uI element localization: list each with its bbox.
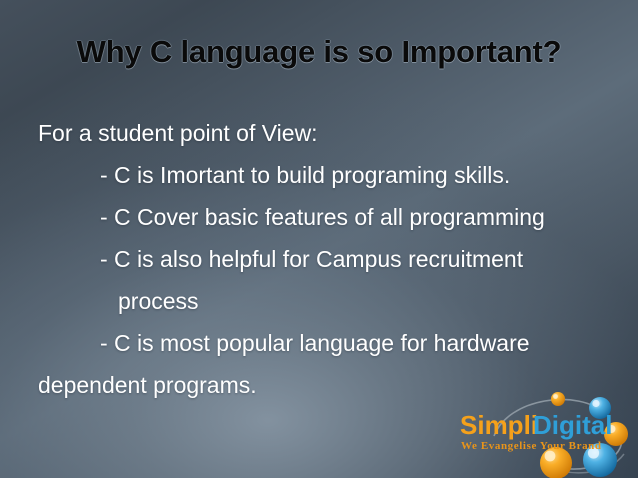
body-intro-line: For a student point of View: <box>38 112 618 154</box>
logo-tagline: We Evangelise Your Brand <box>461 440 602 452</box>
bullet-line-1: - C is Imortant to build programing skil… <box>38 154 618 196</box>
logo-word-digital: Digital <box>533 410 612 440</box>
logo-word-simpli: Simpli <box>460 410 538 440</box>
bullet-line-3-continuation: process <box>38 280 618 322</box>
simplidigital-logo: Simpli Digital We Evangelise Your Brand <box>448 392 638 478</box>
slide-canvas: Why C language is so Important? For a st… <box>0 0 638 478</box>
bullet-line-3: - C is also helpful for Campus recruitme… <box>38 238 618 280</box>
sphere-orange-small-icon <box>551 392 565 406</box>
bullet-line-2: - C Cover basic features of all programm… <box>38 196 618 238</box>
slide-body: For a student point of View: - C is Imor… <box>38 112 618 406</box>
page-title: Why C language is so Important? <box>0 34 638 70</box>
bullet-line-4: - C is most popular language for hardwar… <box>38 322 618 364</box>
